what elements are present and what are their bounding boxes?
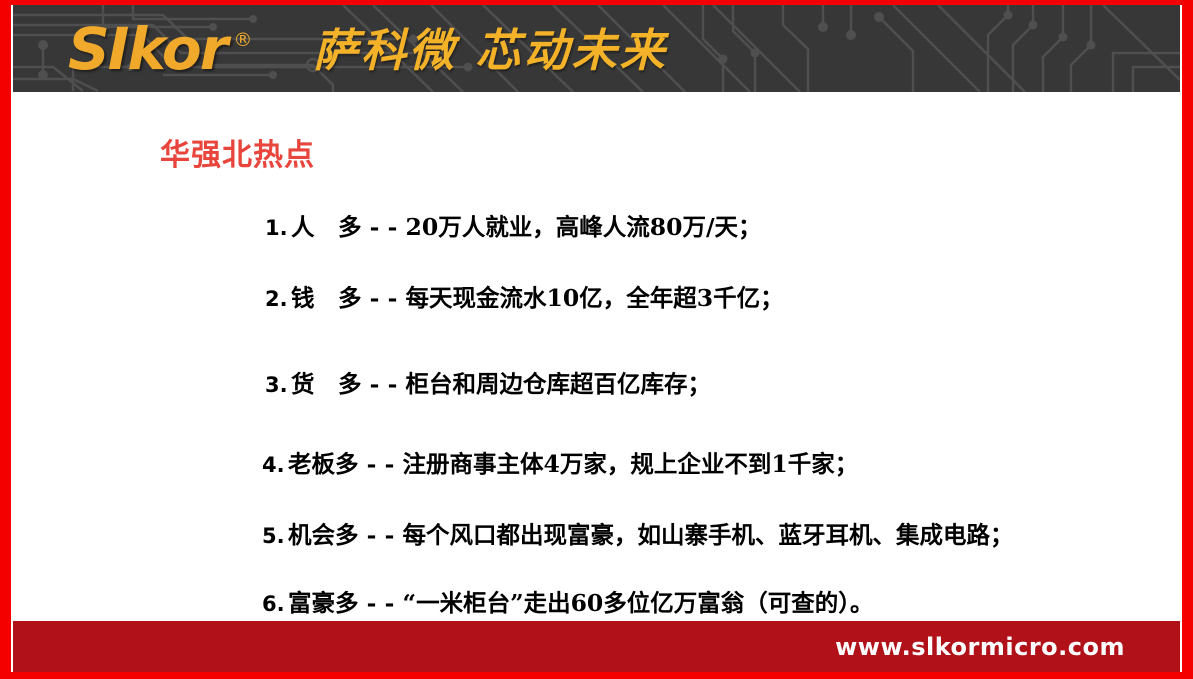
presentation-slide: SIkor ® 萨科微 芯动未来 华强北热点 1. 人 多 - - 20万人就业… bbox=[0, 0, 1193, 679]
list-item-number: 5. bbox=[262, 524, 288, 548]
slide-border-left bbox=[0, 0, 11, 679]
list-item-text: 富豪多 - - “一米柜台”走出60多位亿万富翁（可查的）。 bbox=[288, 584, 874, 618]
slkor-logo: SIkor ® bbox=[68, 13, 252, 85]
list-item-number: 3. bbox=[265, 373, 291, 397]
registered-trademark-icon: ® bbox=[233, 29, 252, 51]
website-url[interactable]: www.slkormicro.com bbox=[835, 633, 1125, 661]
list-item: 4. 老板多 - - 注册商事主体4万家，规上企业不到1千家； bbox=[252, 445, 1152, 479]
list-item-number: 6. bbox=[262, 592, 288, 616]
list-item-text: 老板多 - - 注册商事主体4万家，规上企业不到1千家； bbox=[288, 445, 858, 479]
list-item: 6. 富豪多 - - “一米柜台”走出60多位亿万富翁（可查的）。 bbox=[252, 584, 1152, 618]
list-item-text: 货 多 - - 柜台和周边仓库超百亿库存； bbox=[291, 365, 711, 399]
page-title: 华强北热点 bbox=[160, 130, 315, 174]
logo-wordmark: SIkor bbox=[68, 13, 226, 85]
list-item: 1. 人 多 - - 20万人就业，高峰人流80万/天； bbox=[252, 208, 1152, 242]
brand-tagline: 萨科微 芯动未来 bbox=[313, 17, 668, 85]
list-item-number: 4. bbox=[262, 453, 288, 477]
list-item-number: 2. bbox=[265, 287, 291, 311]
list-item: 3. 货 多 - - 柜台和周边仓库超百亿库存； bbox=[252, 365, 1152, 399]
list-item-text: 人 多 - - 20万人就业，高峰人流80万/天； bbox=[291, 208, 762, 242]
list-item-text: 钱 多 - - 每天现金流水10亿，全年超3千亿； bbox=[291, 279, 784, 313]
slide-border-right bbox=[1182, 0, 1193, 679]
list-item-number: 1. bbox=[265, 216, 291, 240]
list-item: 5. 机会多 - - 每个风口都出现富豪，如山寨手机、蓝牙耳机、集成电路； bbox=[252, 516, 1152, 550]
slide-border-bottom bbox=[0, 672, 1193, 679]
header-banner: SIkor ® 萨科微 芯动未来 bbox=[13, 5, 1180, 92]
list-item: 2. 钱 多 - - 每天现金流水10亿，全年超3千亿； bbox=[252, 279, 1152, 313]
highlights-list: 1. 人 多 - - 20万人就业，高峰人流80万/天； 2. 钱 多 - - … bbox=[252, 208, 1152, 618]
list-item-text: 机会多 - - 每个风口都出现富豪，如山寨手机、蓝牙耳机、集成电路； bbox=[288, 516, 1014, 550]
footer-bar: www.slkormicro.com bbox=[13, 621, 1180, 672]
